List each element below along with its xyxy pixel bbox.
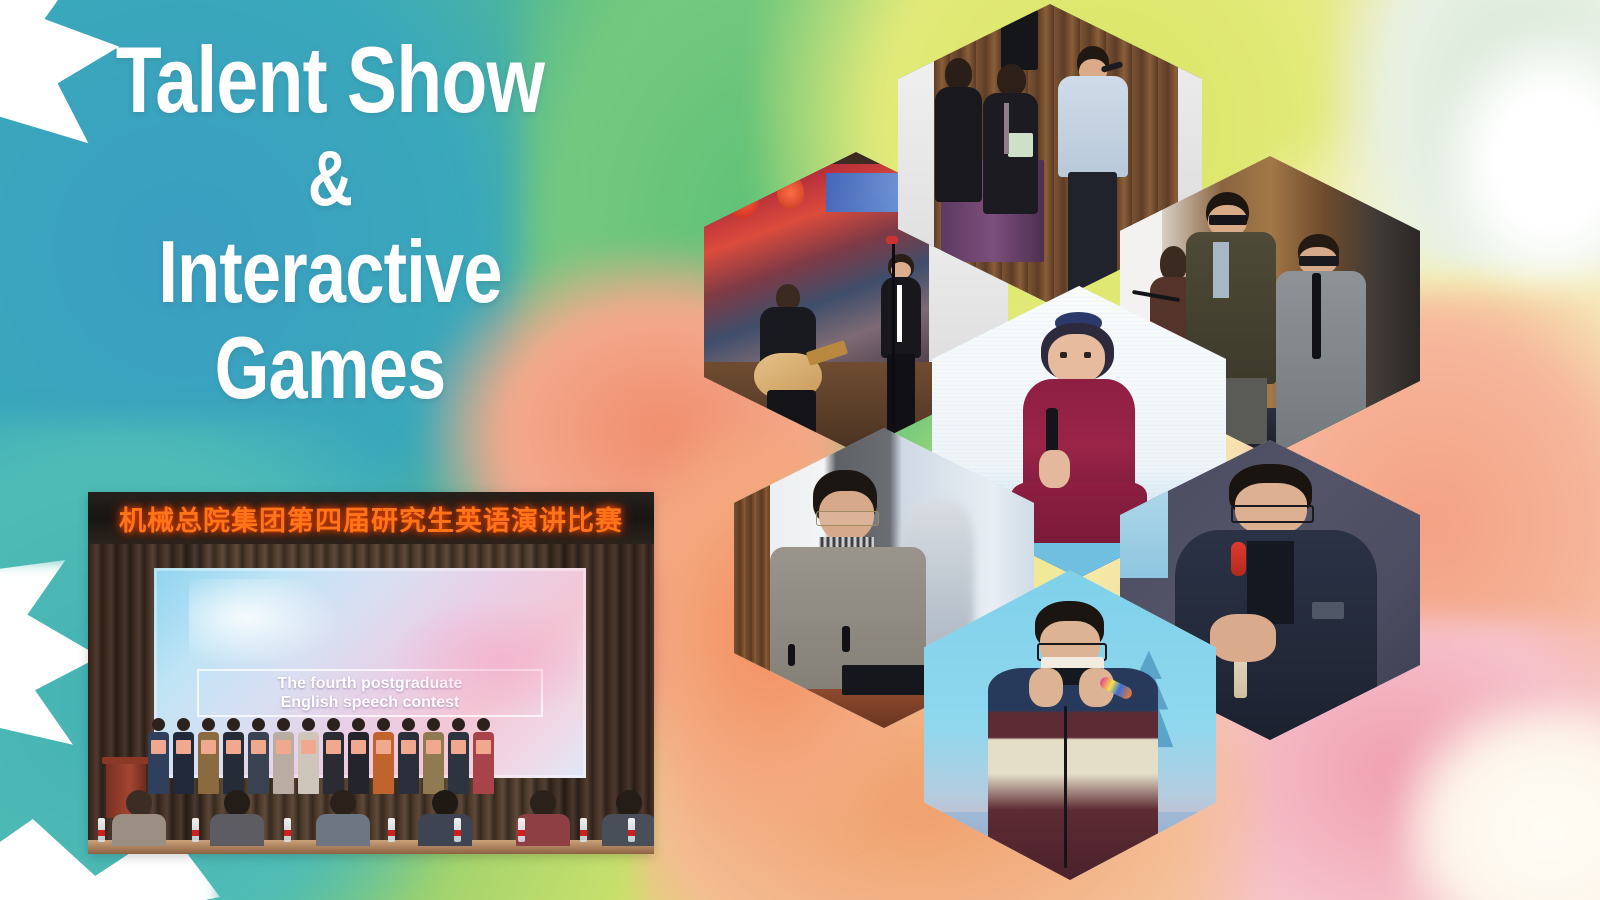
judge [112, 790, 166, 846]
jacket-logo [1312, 602, 1344, 619]
male-singer [1056, 46, 1129, 298]
judge [210, 790, 264, 846]
contestant-row [148, 694, 508, 794]
eyeglasses [1231, 505, 1314, 523]
gooseneck-microphone [788, 644, 795, 666]
contestant [423, 718, 444, 794]
contestant [398, 718, 419, 794]
contestant [373, 718, 394, 794]
led-banner-text: 机械总院集团第四届研究生英语演讲比赛 [119, 499, 623, 538]
judge-with-notes [983, 64, 1038, 214]
water-bottle [628, 818, 635, 842]
contestant [473, 718, 494, 794]
female-singer [874, 254, 929, 446]
eyeglasses [816, 511, 878, 526]
slide-canvas: Talent Show & Interactive Games 机械总院集团第四… [0, 0, 1600, 900]
water-bottle [388, 818, 395, 842]
microphone [886, 236, 898, 244]
striped-sweater [988, 668, 1158, 780]
contestant [298, 718, 319, 794]
harmonica-player [994, 601, 1152, 880]
judge-row [88, 788, 654, 854]
hands [1039, 450, 1070, 487]
eyeglasses [1209, 215, 1247, 225]
microphone-stand [1064, 706, 1067, 867]
judge [418, 790, 472, 846]
contestant [323, 718, 344, 794]
auditorium-stage: The fourth postgraduate English speech c… [88, 544, 654, 854]
face [1048, 334, 1104, 384]
water-bottle [454, 818, 461, 842]
red-handheld-microphone [1231, 542, 1246, 576]
judge [316, 790, 370, 846]
contestant [148, 718, 169, 794]
water-bottle [518, 818, 525, 842]
contestant [448, 718, 469, 794]
gooseneck-microphone [842, 626, 850, 652]
screen-line-1: The fourth postgraduate [203, 674, 537, 693]
bg-blob-white-midright [1440, 30, 1600, 290]
handheld-microphone [1312, 273, 1321, 359]
judge-standing [934, 58, 983, 202]
left-hand [1029, 668, 1064, 707]
water-bottle [580, 818, 587, 842]
water-bottle [192, 818, 199, 842]
hand [1210, 614, 1276, 662]
contestant [198, 718, 219, 794]
bg-blob-white-bottomright [1400, 700, 1600, 900]
led-banner: 机械总院集团第四届研究生英语演讲比赛 [88, 492, 654, 544]
english-speech-contest-photo: 机械总院集团第四届研究生英语演讲比赛 The fourth postgradua… [88, 492, 654, 854]
inner-shirt [1247, 541, 1294, 624]
contestant [223, 718, 244, 794]
contestant [173, 718, 194, 794]
water-bottle [284, 818, 291, 842]
contestant [248, 718, 269, 794]
handheld-microphone [1046, 408, 1058, 454]
water-bottle [98, 818, 105, 842]
contestant [273, 718, 294, 794]
eyeglasses [1299, 256, 1339, 267]
contestant [348, 718, 369, 794]
